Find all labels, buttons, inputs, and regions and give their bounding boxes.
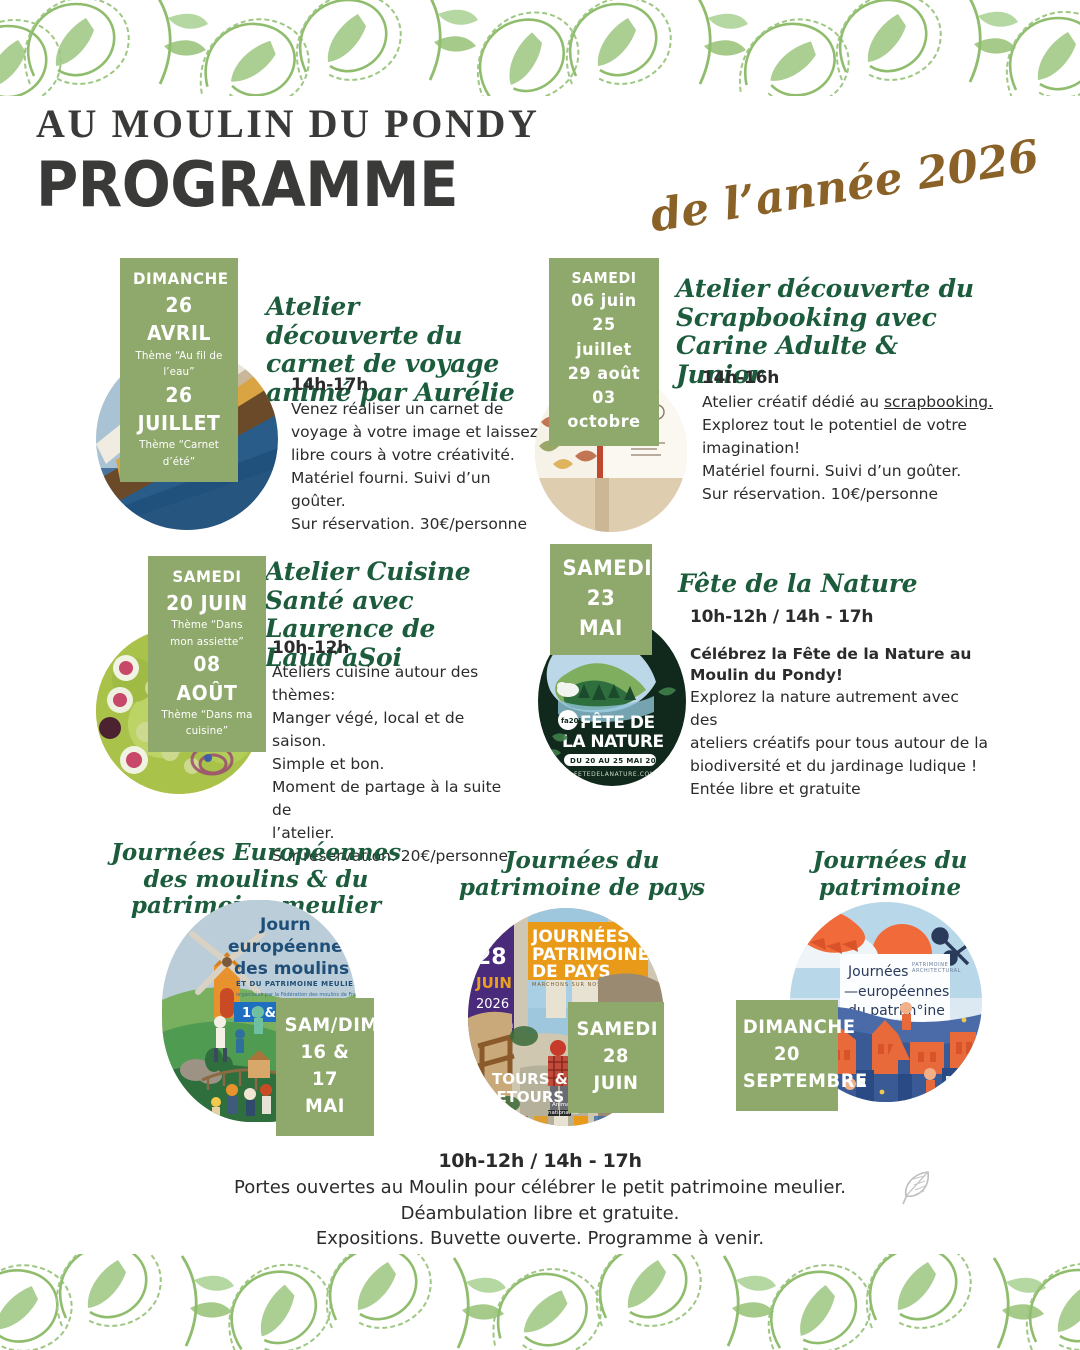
svg-text:fa20L: fa20L [561,717,584,725]
svg-text:ARCHITECTURAL: ARCHITECTURAL [912,968,961,974]
event-3-time: 10h-12h [272,636,522,661]
top-decorative-border [0,0,1080,96]
event-1-date-badge: DIMANCHE 26 AVRIL Thème “Au fil de l’eau… [120,258,238,482]
event-1-time: 14h-17h [291,373,541,398]
svg-text:JOURNÉES: JOURNÉES [531,925,629,947]
event-4-date-badge: SAMEDI 23 MAI [550,544,652,655]
footer-line-3: Expositions. Buvette ouverte. Programme … [0,1226,1080,1252]
svg-text:28: 28 [476,945,507,970]
svg-text:ET DU PATRIMOINE MEULIER: ET DU PATRIMOINE MEULIER [236,980,356,988]
svg-text:—européennes: —européennes [844,984,949,1000]
event-4-description: 10h-12h / 14h - 17h Célébrez la Fête de … [690,605,990,801]
svg-text:JUIN: JUIN [475,974,512,992]
trio-2-date-badge: SAMEDI 28 JUIN [568,1002,664,1113]
event-3-date-badge: SAMEDI 20 JUIN Thème “Dans mon assiette”… [148,556,266,752]
fete-line1: FÊTE DE [580,711,655,733]
scrapbooking-link: scrapbooking. [884,393,993,411]
svg-text:FETEDELANATURE.COM: FETEDELANATURE.COM [574,771,656,778]
event-4-lead: Célébrez la Fête de la Nature au Moulin … [690,644,990,686]
svg-text:Journées: Journées [847,964,908,980]
event-3-description: 10h-12h Ateliers cuisine autour des thèm… [272,636,522,868]
svg-text:2026: 2026 [476,997,509,1012]
trio-3-date-badge: DIMANCHE 20 SEPTEMBRE [736,1000,838,1111]
svg-text:TOURS &: TOURS & [492,1070,568,1088]
event-2-time: 14h-16h [702,366,1002,391]
event-1-description: 14h-17h Venez réaliser un carnet de voya… [291,373,541,536]
svg-text:DU 20 AU 25 MAI 2026: DU 20 AU 25 MAI 2026 [570,757,667,765]
header-kicker: AU MOULIN DU PONDY [36,104,1046,144]
svg-text:européenne: européenne [228,937,343,957]
svg-text:27: 27 [476,919,507,944]
fete-line2: LA NATURE [562,732,664,752]
svg-text:des moulins: des moulins [234,959,349,979]
event-4-time: 10h-12h / 14h - 17h [690,605,990,630]
event-2-date-badge: SAMEDI 06 juin 25 juillet 29 août 03 oct… [549,258,659,446]
poster-header: AU MOULIN DU PONDY PROGRAMME de l’année … [36,104,1046,224]
svg-text:Journ: Journ [259,915,311,935]
trio-1-date-badge: SAM/DIM 16 & 17 MAI [276,998,374,1136]
event-2-description: 14h-16h Atelier créatif dédié au scrapbo… [702,366,1002,506]
bottom-decorative-border [0,1254,1080,1350]
svg-text:organisées par la Fédération d: organisées par la Fédération des moulins… [236,991,356,998]
header-year-script: de l’année 2026 [646,131,1042,243]
leaf-icon [900,1168,936,1208]
event-4-title: Fête de la Nature [678,570,998,599]
trio-3-title: Journées du patrimoine [790,848,990,901]
trio-2-title: Journées du patrimoine de pays [446,848,718,901]
